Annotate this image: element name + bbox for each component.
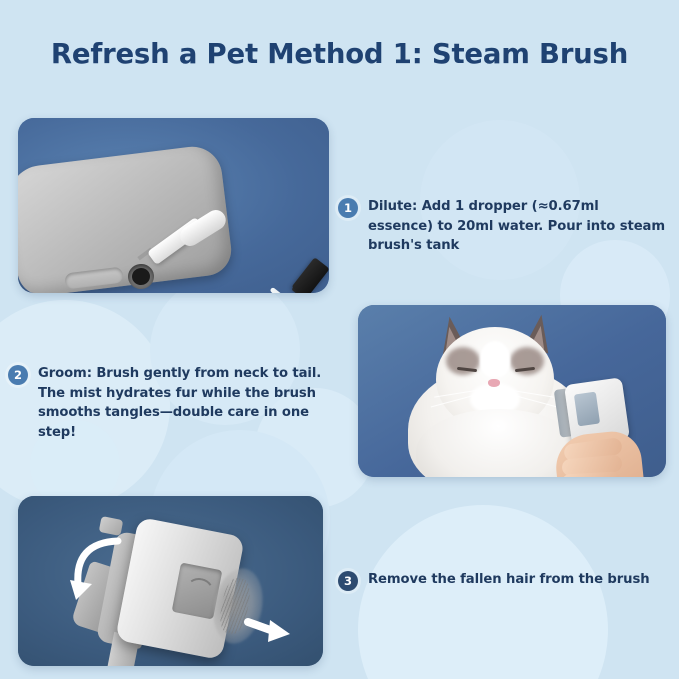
step-2-text: Groom: Brush gently from neck to tail. T… xyxy=(38,364,348,442)
steam-brush-filling-photo: TouchNeed Pet Fur Gloss Essential Oil Mi… xyxy=(18,118,329,293)
step-1-text: Dilute: Add 1 dropper (≈0.67ml essence) … xyxy=(368,197,668,256)
brush-window xyxy=(574,392,600,427)
step-3-row: 3 Remove the fallen hair from the brush xyxy=(338,570,668,591)
step-1-row: 1 Dilute: Add 1 dropper (≈0.67ml essence… xyxy=(338,197,668,256)
background-blob xyxy=(358,505,608,679)
cat-nose xyxy=(488,379,500,387)
cat-face-blaze xyxy=(480,341,510,377)
straight-pull-arrow xyxy=(248,620,290,642)
hair-removal-photo xyxy=(18,496,323,666)
cat-grooming-photo xyxy=(358,305,666,477)
step-2-row: 2 Groom: Brush gently from neck to tail.… xyxy=(8,364,348,442)
step-2-badge: 2 xyxy=(8,365,28,385)
curved-press-arrow xyxy=(70,541,118,600)
step-1-badge: 1 xyxy=(338,198,358,218)
step-3-badge: 3 xyxy=(338,571,358,591)
panel3-arrow-overlay xyxy=(18,496,323,666)
step-3-text: Remove the fallen hair from the brush xyxy=(368,570,650,590)
page-title: Refresh a Pet Method 1: Steam Brush xyxy=(0,38,679,70)
